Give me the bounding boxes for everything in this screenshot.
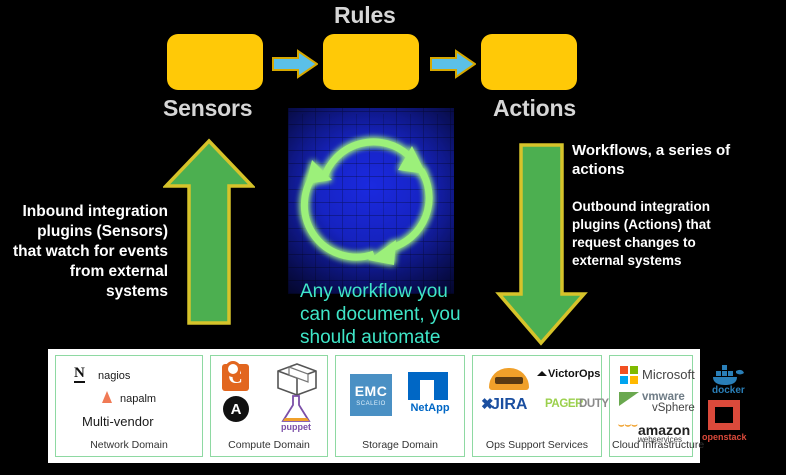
automation-cycle-image	[288, 108, 454, 294]
ops-logo-group: VictorOps ✖ JIRA PAGER DUTY	[475, 360, 599, 439]
netapp-logo-text: NetApp	[404, 402, 456, 414]
cloud-logo-group: Microsoft docker vmware vSphere ⌣⌣⌣ amaz…	[612, 360, 690, 439]
flow-label-sensors: Sensors	[163, 95, 252, 122]
note-workflows: Workflows, a series of actions	[572, 141, 784, 179]
victorops-icon	[537, 366, 547, 376]
integration-logo-panel: N nagios napalm Multi-vendor Network Dom…	[48, 349, 700, 463]
microsoft-logo-text: Microsoft	[642, 367, 695, 382]
circular-cycle-arrows-icon	[288, 108, 454, 294]
card-title-ops: Ops Support Services	[475, 439, 599, 454]
storage-logo-group: EMC SCALEIO NetApp	[338, 360, 462, 439]
victorops-logo-text: VictorOps	[548, 368, 600, 380]
compute-logo-group: C A puppet	[213, 360, 325, 439]
docker-logo-text: docker	[712, 385, 745, 396]
jira-logo-text: JIRA	[491, 396, 527, 414]
flow-label-actions: Actions	[493, 95, 576, 122]
chef-icon-dot-wrap	[222, 364, 249, 391]
microsoft-icon	[620, 366, 638, 384]
vsphere-logo-text: vSphere	[652, 402, 695, 414]
emc-icon: EMC SCALEIO	[350, 374, 392, 416]
puppet-logo-text: puppet	[273, 422, 319, 432]
puppet-icon	[273, 394, 319, 424]
ansible-icon: A	[223, 396, 249, 422]
flow-label-rules: Rules	[334, 2, 396, 29]
domain-card-compute[interactable]: C A puppet Compute Domain	[210, 355, 328, 457]
note-inbound-integration: Inbound integration plugins (Sensors) th…	[8, 202, 168, 302]
amazon-icon: ⌣⌣⌣	[618, 420, 638, 431]
emc-logo-text: EMC	[355, 383, 388, 399]
slack-hardhat-band-icon	[495, 377, 523, 384]
card-title-network: Network Domain	[58, 439, 200, 454]
multi-vendor-label: Multi-vendor	[82, 414, 154, 429]
domain-card-cloud[interactable]: Microsoft docker vmware vSphere ⌣⌣⌣ amaz…	[609, 355, 693, 457]
openstack-icon	[708, 400, 740, 430]
vmware-icon	[619, 392, 639, 406]
pagerduty-logo-text2: DUTY	[579, 398, 609, 410]
netapp-icon-notch	[420, 380, 434, 400]
flow-box-rules[interactable]	[323, 34, 419, 90]
flow-box-sensors[interactable]	[167, 34, 263, 90]
flow-box-actions[interactable]	[481, 34, 577, 90]
nagios-logo-text: nagios	[98, 370, 130, 382]
right-arrow-icon	[272, 49, 318, 79]
nagios-icon: N	[74, 366, 85, 383]
up-arrow-icon	[163, 138, 255, 326]
domain-card-network[interactable]: N nagios napalm Multi-vendor Network Dom…	[55, 355, 203, 457]
napalm-icon	[102, 391, 112, 403]
card-title-storage: Storage Domain	[338, 439, 462, 454]
network-logo-group: N nagios napalm Multi-vendor	[58, 360, 200, 439]
domain-card-storage[interactable]: EMC SCALEIO NetApp Storage Domain	[335, 355, 465, 457]
chef-dot-icon	[225, 361, 241, 377]
docker-icon	[710, 362, 746, 386]
pagerduty-logo-text: PAGER	[545, 398, 583, 410]
openstack-logo-text: openstack	[702, 432, 747, 442]
automation-caption: Any workflow you can document, you shoul…	[300, 280, 475, 349]
note-outbound-integration: Outbound integration plugins (Actions) t…	[572, 198, 722, 270]
vagrant-icon	[275, 362, 319, 396]
napalm-logo-text: napalm	[120, 393, 156, 405]
emc-logo-subtext: SCALEIO	[356, 401, 386, 407]
aws-logo-subtext: webservices	[638, 435, 682, 444]
domain-card-ops[interactable]: VictorOps ✖ JIRA PAGER DUTY Ops Support …	[472, 355, 602, 457]
right-arrow-icon	[430, 49, 476, 79]
card-title-compute: Compute Domain	[213, 439, 325, 454]
slide-canvas: Sensors Rules Actions	[0, 0, 786, 475]
